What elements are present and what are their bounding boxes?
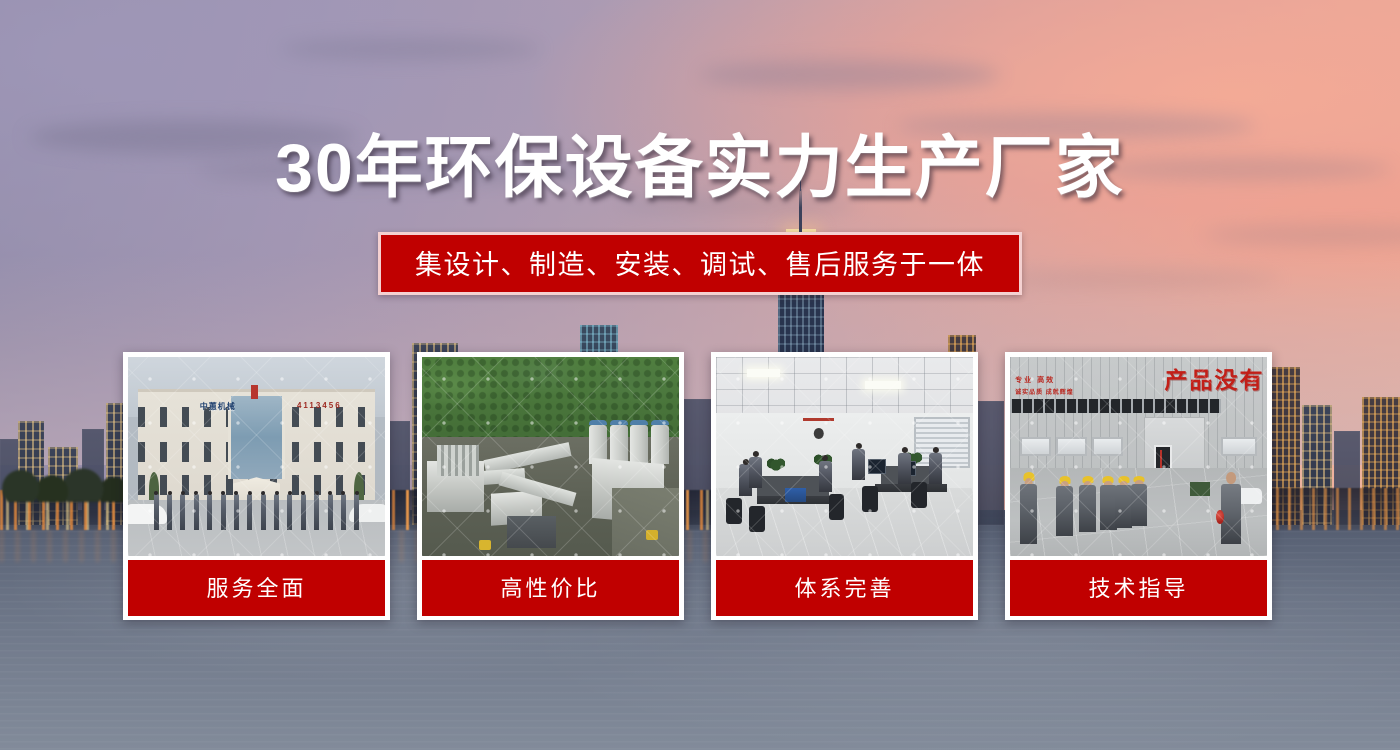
staff-figure [287,494,292,530]
staff-figure [154,494,159,530]
staff-figure [194,494,199,530]
storage-silo [630,425,648,465]
factory-slogan-small-2: 诚实品质 成就辉煌 [1015,387,1074,396]
staff-figure [314,494,319,530]
office-interior-photo [716,357,973,556]
office-worker [819,461,832,493]
cloud-shape [280,38,540,60]
factory-window [1092,437,1123,457]
staff-figure [221,494,226,530]
supervisor-body [1221,484,1242,544]
potted-plant [767,455,785,473]
computer-monitor [868,459,886,475]
office-chair [862,486,877,512]
cloud-shape [700,60,1000,90]
staff-figure [354,494,359,530]
staff-figure [328,494,333,530]
photo-scene [716,357,973,556]
decal-banner [803,418,834,421]
storage-silo [610,425,628,465]
feature-card[interactable]: 中蕙机械 4113456 [123,352,390,620]
subtitle-banner-wrapper: 集设计、制造、安装、调试、售后服务于一体 [0,232,1400,295]
worker-body [1100,485,1117,530]
factory-worker [1115,476,1132,528]
staff-lineup [154,494,360,530]
office-chair [829,494,844,520]
flag [251,385,258,398]
factory-worker [1100,476,1117,530]
building-sign-text: 中蕙机械 [200,401,236,412]
feature-card-list: 中蕙机械 4113456 [123,352,1277,620]
factory-worker [1056,476,1073,536]
glass-atrium [228,396,285,479]
office-worker [749,457,762,489]
office-chair [749,506,764,532]
site-road [612,488,679,556]
card-label: 技术指导 [1010,560,1267,616]
factory-worker [1131,476,1148,526]
staff-figure [274,494,279,530]
photo-scene: 产品没有 专业 高效 诚实品质 成就辉煌 [1010,357,1267,556]
staff-figure [180,494,185,530]
subtitle-banner: 集设计、制造、安装、调试、售后服务于一体 [378,232,1022,295]
factory-worker [1079,476,1096,532]
factory-worker [1020,472,1037,544]
clerestory-windows [1010,399,1221,413]
laptop [785,488,806,502]
decal-figure [814,428,824,439]
staff-figure [207,494,212,530]
office-worker [852,449,865,481]
page-title: 30年环保设备实力生产厂家 [0,134,1400,202]
office-chair [726,498,741,524]
preheater-tower [437,445,478,477]
staff-figure [261,494,266,530]
office-chair [911,482,926,508]
factory-slogan-small: 专业 高效 [1015,375,1055,385]
supervisor [1221,472,1242,544]
factory-slogan-large: 产品没有 [1164,361,1264,395]
wall-decal [803,417,834,445]
staff-figure [341,494,346,530]
worker-body [1020,484,1037,544]
supervisor-head [1226,472,1236,483]
plant-shed [507,516,556,548]
office-worker [898,453,911,485]
worker-body [1115,485,1132,528]
worker-body [1056,486,1073,536]
feature-card[interactable]: 体系完善 [711,352,978,620]
feature-card[interactable]: 高性价比 [417,352,684,620]
ceiling-light-panel [747,369,780,377]
promo-banner: 30年环保设备实力生产厂家 集设计、制造、安装、调试、售后服务于一体 中蕙机械 [0,0,1400,750]
company-headquarters-photo: 中蕙机械 4113456 [128,357,385,556]
storage-silo [651,425,669,465]
ceiling-light-panel [865,381,901,389]
factory-window [1221,437,1257,457]
material-bin [1190,482,1211,496]
staff-figure [301,494,306,530]
photo-scene: 中蕙机械 4113456 [128,357,385,556]
factory-window [1020,437,1051,457]
staff-figure [234,494,239,530]
window-blinds [914,417,971,469]
construction-vehicle [646,530,659,540]
card-label: 体系完善 [716,560,973,616]
office-building: 中蕙机械 4113456 [138,389,374,504]
feature-card[interactable]: 产品没有 专业 高效 诚实品质 成就辉煌 [1005,352,1272,620]
card-label: 服务全面 [128,560,385,616]
drop-ceiling [716,357,973,417]
worker-body [1131,484,1148,526]
factory-window [1056,437,1087,457]
photo-scene [422,357,679,556]
worker-body [1079,485,1096,532]
staff-figure [167,494,172,530]
industrial-plant-aerial-photo [422,357,679,556]
building-phone-text: 4113456 [297,401,342,410]
factory-workers-photo: 产品没有 专业 高效 诚实品质 成就辉煌 [1010,357,1267,556]
card-label: 高性价比 [422,560,679,616]
office-worker [929,453,942,485]
construction-vehicle [479,540,492,550]
staff-figure [247,494,252,530]
